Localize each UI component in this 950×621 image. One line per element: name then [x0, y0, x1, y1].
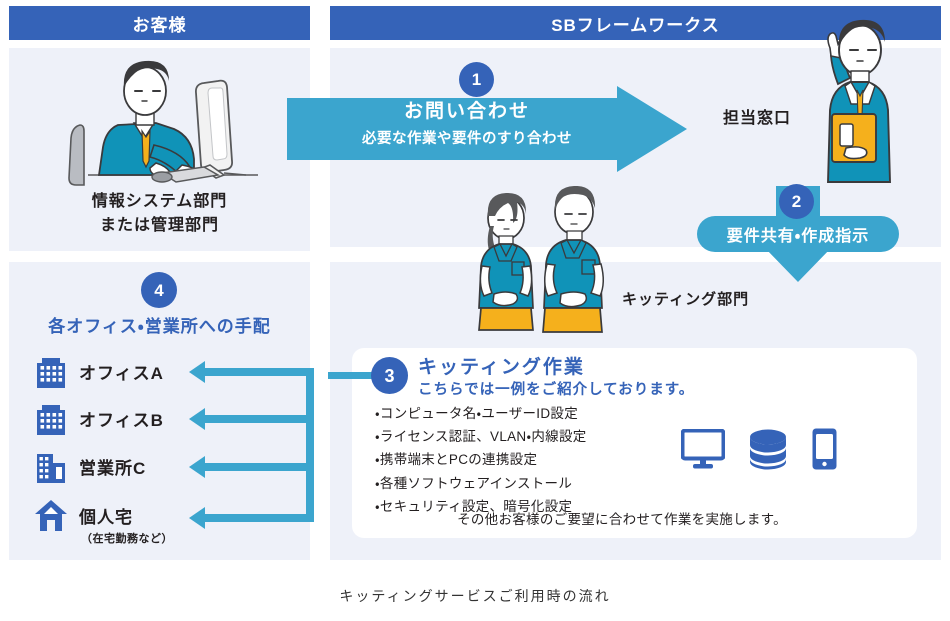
- kitting-subtitle: こちらでは一例をご紹介しております。: [418, 378, 694, 399]
- businessman-with-folder-illustration: [788, 14, 913, 192]
- monitor-icon: [681, 429, 725, 469]
- destination-row-office-b: オフィスB: [34, 401, 164, 435]
- distribution-arrowhead-1: [189, 361, 205, 383]
- customer-department-line2: または管理部門: [9, 214, 310, 238]
- step1-arrow-shape: [287, 86, 687, 172]
- kitting-task-list: ・コンピュータ名・ユーザーID設定 ・ライセンス認証、VLAN・内線設定 ・携帯…: [375, 402, 587, 518]
- customer-department-label: 情報システム部門 または管理部門: [9, 190, 310, 238]
- two-staff-workers-illustration: [466, 186, 621, 336]
- distribution-arrowhead-3: [189, 456, 205, 478]
- destination-label: オフィスB: [79, 406, 164, 431]
- home-icon: [34, 498, 68, 532]
- kitting-title: キッティング作業: [418, 352, 585, 379]
- person-at-desk-illustration: [58, 53, 268, 193]
- office-building-icon: [34, 401, 68, 435]
- distribution-branch-1: [205, 368, 310, 376]
- office-building-icon: [34, 354, 68, 388]
- kitting-task-item: ・各種ソフトウェアインストール: [375, 472, 587, 495]
- distribution-branch-2: [205, 415, 310, 423]
- destination-label: オフィスA: [79, 359, 164, 384]
- step-badge-2-number: 2: [792, 193, 801, 210]
- kitting-task-item: ・携帯端末とPCの連携設定: [375, 448, 587, 471]
- kitting-department-label: キッティング部門: [622, 288, 749, 309]
- distribution-branch-4: [205, 514, 310, 522]
- step-badge-1: 1: [459, 62, 494, 97]
- branch-office-icon: [34, 449, 68, 483]
- database-icon: [747, 428, 789, 470]
- step-badge-3: 3: [371, 357, 408, 394]
- destination-row-home: 個人宅: [34, 498, 133, 532]
- step4-title: 各オフィス・営業所への手配: [9, 312, 310, 337]
- column-header-sbfw-label: SBフレームワークス: [551, 11, 720, 36]
- step-badge-4-number: 4: [154, 282, 163, 299]
- destination-label: 個人宅: [79, 503, 133, 528]
- destination-sublabel-home: （在宅勤務など）: [81, 530, 173, 546]
- destination-row-office-a: オフィスA: [34, 354, 164, 388]
- diagram-caption: キッティングサービスご利用時の流れ: [0, 586, 950, 606]
- distribution-arrowhead-4: [189, 507, 205, 529]
- customer-department-line1: 情報システム部門: [9, 190, 310, 214]
- kitting-note: その他お客様のご要望に合わせて作業を実施します。: [352, 508, 892, 528]
- distribution-branch-3: [205, 463, 310, 471]
- contact-window-label: 担当窓口: [723, 104, 791, 128]
- step-badge-1-number: 1: [472, 71, 481, 88]
- step-badge-2: 2: [779, 184, 814, 219]
- device-icon-group: [681, 427, 838, 471]
- distribution-trunk-line: [306, 368, 314, 522]
- step-badge-4: 4: [141, 272, 177, 308]
- step-badge-3-number: 3: [384, 367, 394, 385]
- kitting-task-item: ・コンピュータ名・ユーザーID設定: [375, 402, 587, 425]
- column-header-customer-label: お客様: [133, 11, 187, 36]
- step2-label: 要件共有・作成指示: [727, 222, 869, 246]
- destination-row-branch-c: 営業所C: [34, 449, 146, 483]
- distribution-arrowhead-2: [189, 408, 205, 430]
- destination-label: 営業所C: [79, 454, 146, 479]
- column-header-customer: お客様: [9, 6, 310, 40]
- smartphone-icon: [811, 427, 838, 471]
- step2-pill: 要件共有・作成指示: [697, 216, 899, 252]
- kitting-task-item: ・ライセンス認証、VLAN・内線設定: [375, 425, 587, 448]
